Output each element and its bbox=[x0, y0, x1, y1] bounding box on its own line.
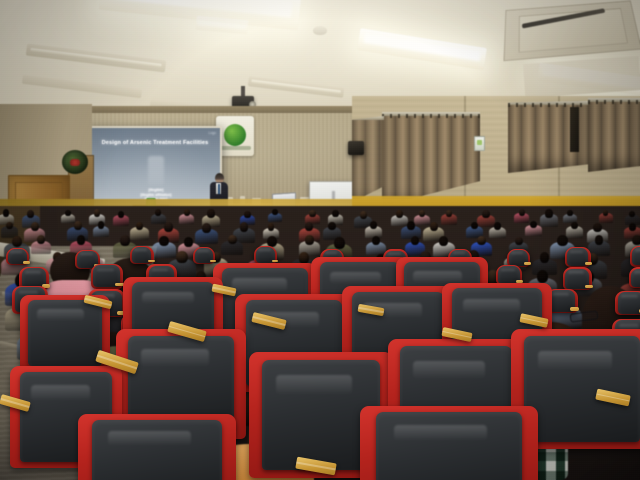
audience-member-head bbox=[65, 210, 71, 216]
fluorescent-fixture-8 bbox=[22, 75, 142, 99]
audience-member-head bbox=[31, 222, 39, 231]
ac-vent-secondary bbox=[523, 56, 640, 98]
audience-member-head bbox=[515, 237, 523, 245]
audience-member-head bbox=[557, 235, 567, 246]
seat-arm bbox=[524, 262, 530, 264]
audience-member-head bbox=[629, 223, 636, 231]
audience-member-head bbox=[482, 210, 489, 218]
light-tube bbox=[198, 18, 246, 29]
banner-emblem bbox=[224, 124, 246, 146]
audience-member-head bbox=[537, 270, 548, 283]
seat-arm bbox=[210, 260, 216, 262]
audience-member-head bbox=[120, 235, 130, 246]
audience-member-head bbox=[545, 209, 552, 217]
auditorium-seat bbox=[256, 247, 275, 263]
auditorium-seat bbox=[498, 266, 520, 284]
slide-byline-2: [illegible affiliation] bbox=[141, 193, 172, 197]
seat-arm bbox=[585, 262, 592, 265]
wreath-bow bbox=[70, 159, 80, 166]
auditorium-seat bbox=[132, 247, 151, 263]
fluorescent-fixture-5 bbox=[26, 44, 166, 73]
auditorium-seat bbox=[618, 292, 640, 313]
wall-switch-plate[interactable] bbox=[474, 136, 485, 151]
audience-member-head bbox=[632, 235, 640, 246]
auditorium-seat bbox=[565, 269, 589, 289]
fluorescent-fixture-2 bbox=[357, 28, 487, 70]
audience-member-head bbox=[94, 209, 100, 216]
audience-member-head bbox=[299, 252, 309, 263]
auditorium-seat bbox=[195, 248, 213, 263]
wreath-decoration bbox=[62, 150, 88, 174]
audience-member-head bbox=[477, 236, 485, 245]
light-tube bbox=[108, 0, 293, 17]
audience-member-head bbox=[332, 210, 338, 217]
lecture-hall-photo: Design of Arsenic Treatment Facilities [… bbox=[0, 0, 640, 480]
curtain-3 bbox=[588, 98, 640, 172]
audience-member-head bbox=[360, 211, 367, 219]
audience-member-head bbox=[334, 237, 344, 249]
seat-back bbox=[632, 247, 640, 265]
audience-member-head bbox=[593, 223, 601, 232]
audience-member-head bbox=[184, 237, 193, 247]
switch-toggle[interactable] bbox=[477, 140, 482, 146]
auditorium-seat bbox=[376, 412, 522, 480]
seat-arm bbox=[570, 307, 579, 310]
fixture-slat bbox=[251, 80, 341, 94]
audience-member-head bbox=[244, 211, 250, 218]
banner-bar bbox=[219, 146, 251, 150]
auditorium-seat bbox=[631, 269, 640, 287]
wall-speaker-icon bbox=[348, 141, 364, 155]
seat-back bbox=[524, 336, 640, 442]
seat-back bbox=[92, 420, 222, 480]
smoke-detector-icon bbox=[313, 26, 327, 35]
audience-member-head bbox=[430, 222, 438, 231]
audience-member-head bbox=[519, 209, 525, 216]
audience-member-head bbox=[407, 221, 415, 230]
auditorium-seat bbox=[524, 336, 640, 442]
audience-member-head bbox=[240, 222, 249, 232]
seat-arm bbox=[23, 261, 29, 263]
audience-member-head bbox=[530, 221, 537, 228]
slide-byline-1: [illegible] bbox=[149, 188, 164, 192]
audience-member-head bbox=[207, 209, 214, 217]
audience-member-head bbox=[439, 236, 448, 246]
seat-back bbox=[28, 300, 102, 366]
auditorium-seat bbox=[567, 248, 588, 265]
audience-member-head bbox=[540, 252, 550, 263]
light-tube bbox=[363, 33, 481, 61]
audience-member-head bbox=[12, 236, 22, 248]
auditorium-seat bbox=[93, 265, 119, 287]
audience-member-head bbox=[309, 210, 315, 217]
curtain-gap bbox=[570, 107, 579, 152]
audience-member-head bbox=[159, 236, 168, 246]
audience-member-head bbox=[603, 210, 609, 216]
seat-arm bbox=[148, 260, 155, 263]
audience-member-head bbox=[571, 222, 578, 230]
seat-back bbox=[631, 269, 640, 287]
ac-vent-inner bbox=[519, 8, 629, 52]
audience-member-head bbox=[6, 222, 13, 230]
audience-member-head bbox=[411, 236, 419, 245]
audience-member-head bbox=[164, 222, 173, 232]
seat-arm bbox=[585, 285, 593, 288]
fluorescent-fixture-3 bbox=[537, 63, 640, 96]
auditorium-seat bbox=[549, 290, 575, 311]
slide-logo-secondary-icon: Logo bbox=[208, 131, 216, 135]
audience-member-head bbox=[268, 223, 275, 230]
audience-member-head bbox=[176, 251, 187, 264]
ac-vent-blade bbox=[521, 9, 604, 29]
ac-vent-icon bbox=[503, 0, 640, 61]
auditorium-seat bbox=[28, 300, 102, 366]
slide-figure-graphic bbox=[148, 156, 164, 186]
fluorescent-fixture-6 bbox=[248, 76, 345, 98]
fluorescent-fixture-1 bbox=[99, 0, 301, 30]
audience-member-head bbox=[370, 221, 377, 229]
audience-member-head bbox=[494, 222, 501, 230]
fluorescent-fixture-4 bbox=[195, 16, 248, 34]
audience-member-head bbox=[228, 235, 237, 245]
audience-member-head bbox=[3, 209, 10, 216]
audience-member-head bbox=[184, 209, 190, 216]
auditorium-seat bbox=[8, 249, 27, 264]
audience-member-head bbox=[77, 235, 86, 245]
seat-back bbox=[376, 412, 522, 480]
presenter-tie bbox=[218, 184, 221, 194]
audience-member-head bbox=[74, 221, 82, 230]
seat-arm bbox=[272, 260, 279, 263]
audience-member-head bbox=[118, 211, 124, 218]
auditorium-seat bbox=[509, 250, 528, 265]
auditorium-seat bbox=[92, 420, 222, 480]
audience-member-head bbox=[595, 235, 604, 245]
audience-member-head bbox=[202, 223, 211, 233]
curtain-2 bbox=[508, 101, 588, 173]
curtain-rings bbox=[588, 100, 640, 104]
auditorium-seat bbox=[632, 247, 640, 265]
audience-member-head bbox=[567, 210, 573, 216]
seat-back bbox=[618, 292, 640, 313]
audience-member-head bbox=[305, 235, 314, 245]
curtain-rings bbox=[382, 114, 480, 118]
audience-member-head bbox=[98, 221, 105, 228]
audience-member-head bbox=[396, 210, 403, 218]
slide-title: Design of Arsenic Treatment Facilities bbox=[95, 140, 215, 146]
fixture-slat bbox=[31, 48, 162, 67]
audience-member-head bbox=[328, 222, 335, 230]
light-tube bbox=[542, 66, 640, 88]
